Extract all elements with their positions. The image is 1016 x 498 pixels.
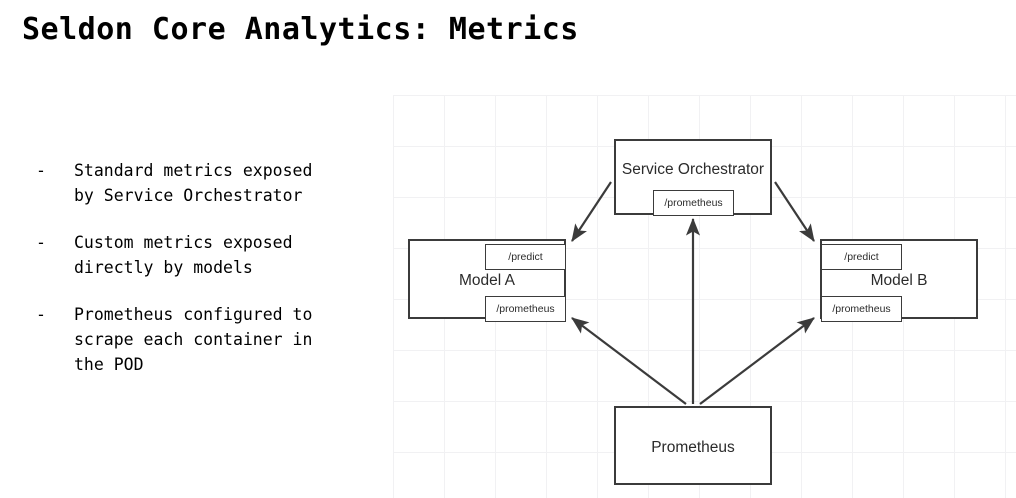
node-prometheus[interactable]: Prometheus: [614, 406, 772, 485]
bullet-dash-icon: -: [36, 302, 74, 327]
node-label: Prometheus: [616, 439, 770, 457]
port-model-b-prometheus[interactable]: /prometheus: [821, 296, 902, 322]
bullet-dash-icon: -: [36, 158, 74, 183]
list-item-label: Custom metrics exposed directly by model…: [74, 230, 386, 280]
port-orchestrator-prometheus[interactable]: /prometheus: [653, 190, 734, 216]
port-model-b-predict[interactable]: /predict: [821, 244, 902, 270]
page-title: Seldon Core Analytics: Metrics: [22, 12, 579, 47]
port-model-a-predict[interactable]: /predict: [485, 244, 566, 270]
port-model-a-prometheus[interactable]: /prometheus: [485, 296, 566, 322]
list-item: - Custom metrics exposed directly by mod…: [36, 230, 386, 280]
bullet-dash-icon: -: [36, 230, 74, 255]
list-item-label: Prometheus configured to scrape each con…: [74, 302, 386, 377]
node-label: Service Orchestrator: [616, 161, 770, 179]
list-item: - Prometheus configured to scrape each c…: [36, 302, 386, 377]
node-label: Model A: [410, 272, 564, 290]
list-item-label: Standard metrics exposed by Service Orch…: [74, 158, 386, 208]
bullet-list: - Standard metrics exposed by Service Or…: [36, 158, 386, 399]
node-label: Model B: [822, 272, 976, 290]
list-item: - Standard metrics exposed by Service Or…: [36, 158, 386, 208]
